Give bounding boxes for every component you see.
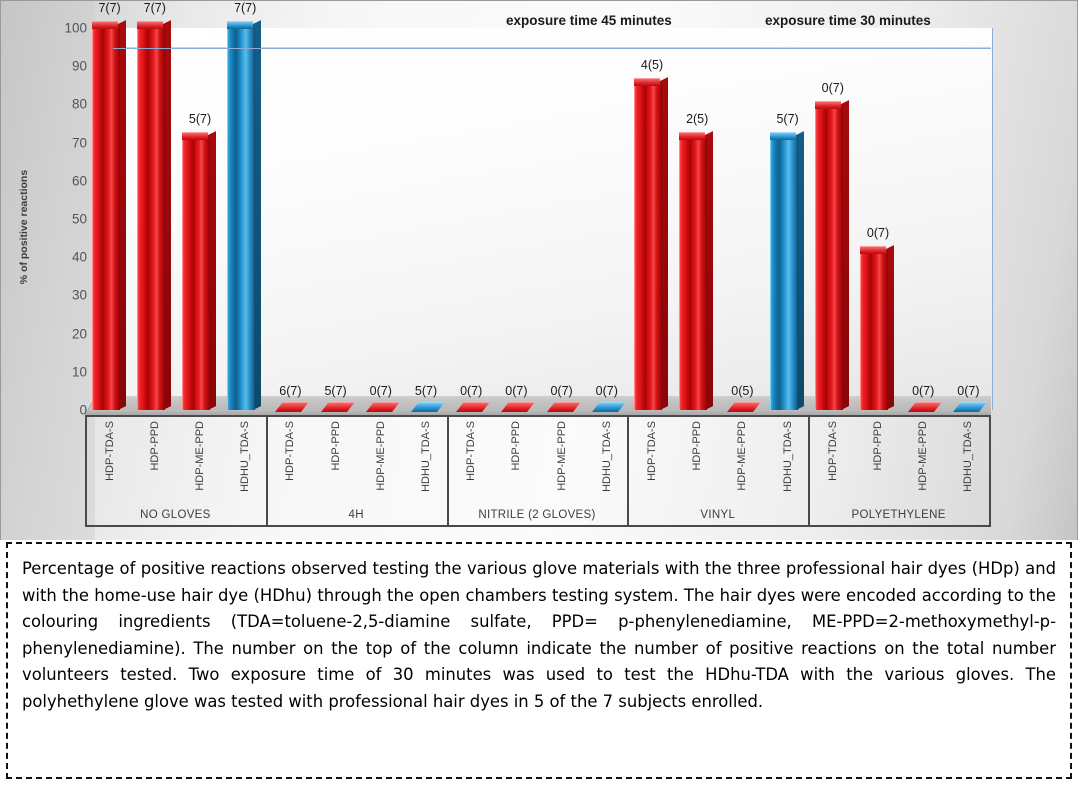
exposure-note-30: exposure time 30 minutes — [765, 13, 931, 28]
bar-value-label: 0(7) — [957, 384, 979, 398]
group-label-vinyl: VINYL — [700, 509, 735, 521]
bar-top-cap — [815, 101, 841, 109]
y-tick-label: 0 — [41, 403, 87, 418]
category-tick-label: HDP-PPD — [510, 421, 522, 471]
category-tick-label: HDP-ME-PPD — [375, 421, 387, 491]
category-tick-label: HDP-PPD — [691, 421, 703, 471]
category-tick-label: HDP-PPD — [330, 421, 342, 471]
bar-value-label: 6(7) — [279, 384, 301, 398]
y-tick-label: 70 — [41, 135, 87, 150]
bar-top-cap — [227, 21, 253, 29]
bar-value-label: 5(7) — [189, 112, 211, 126]
bar-front-face — [815, 108, 843, 410]
bar — [815, 108, 841, 410]
bar — [227, 28, 253, 410]
y-tick-label: 90 — [41, 59, 87, 74]
y-tick-label: 50 — [41, 212, 87, 227]
category-tick-label: HDHU_TDA-S — [962, 421, 974, 492]
figure-caption: Percentage of positive reactions observe… — [6, 542, 1072, 779]
category-tick-label: HDP-TDA-S — [646, 421, 658, 481]
bar-top-cap — [860, 246, 886, 254]
bar-value-label: 5(7) — [776, 112, 798, 126]
y-tick-label: 10 — [41, 364, 87, 379]
category-group-separator — [447, 417, 449, 525]
group-label-4h: 4H — [349, 509, 364, 521]
y-tick-label: 100 — [41, 21, 87, 36]
bar — [679, 139, 705, 410]
bar-front-face — [860, 253, 888, 410]
figure-caption-text: Percentage of positive reactions observe… — [22, 556, 1056, 715]
category-tick-label: HDP-TDA-S — [284, 421, 296, 481]
category-tick-label: HDP-ME-PPD — [736, 421, 748, 491]
figure-page: 0102030405060708090100 % of positive rea… — [0, 0, 1078, 785]
bar-top-cap — [770, 132, 796, 140]
category-tick-label: HDP-TDA-S — [465, 421, 477, 481]
bar-front-face — [634, 85, 662, 410]
bar-value-label: 7(7) — [234, 1, 256, 15]
bar-value-label: 0(7) — [505, 384, 527, 398]
group-label-polyethylene: POLYETHYLENE — [852, 509, 946, 521]
category-tick-label: HDHU_TDA-S — [239, 421, 251, 492]
y-tick-label: 20 — [41, 326, 87, 341]
category-tick-label: HDP-TDA-S — [104, 421, 116, 481]
y-tick-label: 30 — [41, 288, 87, 303]
bar — [770, 139, 796, 410]
bar — [92, 28, 118, 410]
bar-value-label: 0(7) — [550, 384, 572, 398]
bar-value-label: 5(7) — [324, 384, 346, 398]
category-tick-label: HDP-PPD — [872, 421, 884, 471]
y-tick-label: 80 — [41, 97, 87, 112]
y-tick-label: 60 — [41, 173, 87, 188]
bar-front-face — [679, 139, 707, 410]
bar-top-cap — [634, 78, 660, 86]
category-tick-label: HDP-ME-PPD — [194, 421, 206, 491]
category-tick-label: HDP-ME-PPD — [917, 421, 929, 491]
bar — [137, 28, 163, 410]
bar — [634, 85, 660, 410]
exposure-note-45: exposure time 45 minutes — [506, 13, 672, 28]
category-tick-label: HDHU_TDA-S — [601, 421, 613, 492]
bar-front-face — [92, 28, 120, 410]
category-tick-label: HDP-PPD — [149, 421, 161, 471]
bar-front-face — [137, 28, 165, 410]
bar-top-cap — [679, 132, 705, 140]
bar-top-cap — [92, 21, 118, 29]
bar-value-label: 5(7) — [415, 384, 437, 398]
category-tick-label: HDP-ME-PPD — [556, 421, 568, 491]
bar — [182, 139, 208, 410]
bar-value-label: 0(5) — [731, 384, 753, 398]
bar — [860, 253, 886, 410]
bar-top-cap — [137, 21, 163, 29]
y-tick-label: 40 — [41, 250, 87, 265]
bar-value-label: 0(7) — [912, 384, 934, 398]
category-tick-label: HDP-TDA-S — [827, 421, 839, 481]
bar-value-label: 0(7) — [460, 384, 482, 398]
chart-panel: 0102030405060708090100 % of positive rea… — [0, 0, 1078, 540]
bar-top-cap — [182, 132, 208, 140]
bar-front-face — [227, 28, 255, 410]
bar-value-label: 0(7) — [867, 226, 889, 240]
bar-front-face — [182, 139, 210, 410]
bar-value-label: 7(7) — [98, 1, 120, 15]
bar-value-label: 7(7) — [144, 1, 166, 15]
group-label-no-gloves: NO GLOVES — [140, 509, 210, 521]
bar-value-label: 2(5) — [686, 112, 708, 126]
bar-value-label: 0(7) — [370, 384, 392, 398]
category-axis-left-edge — [85, 415, 87, 527]
group-label-nitrile-2-gloves: NITRILE (2 GLOVES) — [478, 509, 595, 521]
bar-value-label: 0(7) — [596, 384, 618, 398]
y-axis-title: % of positive reactions — [18, 142, 30, 312]
category-group-separator — [627, 417, 629, 525]
bar-front-face — [770, 139, 798, 410]
category-group-separator — [808, 417, 810, 525]
bar-value-label: 0(7) — [822, 81, 844, 95]
y-axis-gutter — [1, 1, 95, 540]
category-tick-label: HDHU_TDA-S — [782, 421, 794, 492]
back-wall-line — [113, 48, 991, 49]
category-tick-label: HDHU_TDA-S — [420, 421, 432, 492]
bar-value-label: 4(5) — [641, 58, 663, 72]
category-axis-right-edge — [989, 415, 991, 527]
category-group-separator — [266, 417, 268, 525]
